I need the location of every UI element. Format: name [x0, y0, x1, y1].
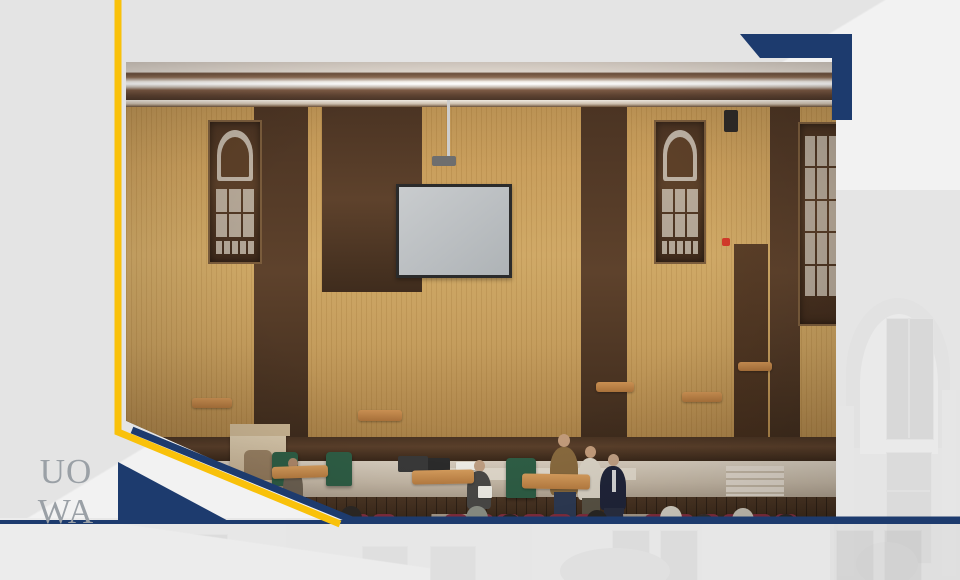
navy-triangle-decor — [118, 462, 234, 524]
uowa-logo: UO WA — [24, 452, 108, 538]
logo-line-2: WA — [24, 492, 108, 532]
photo-vignette — [126, 62, 836, 522]
poster-canvas: UO WA — [0, 0, 960, 580]
lecture-hall-photo — [126, 62, 836, 522]
navy-corner-bracket — [740, 34, 852, 120]
logo-line-1: UO — [24, 452, 108, 492]
